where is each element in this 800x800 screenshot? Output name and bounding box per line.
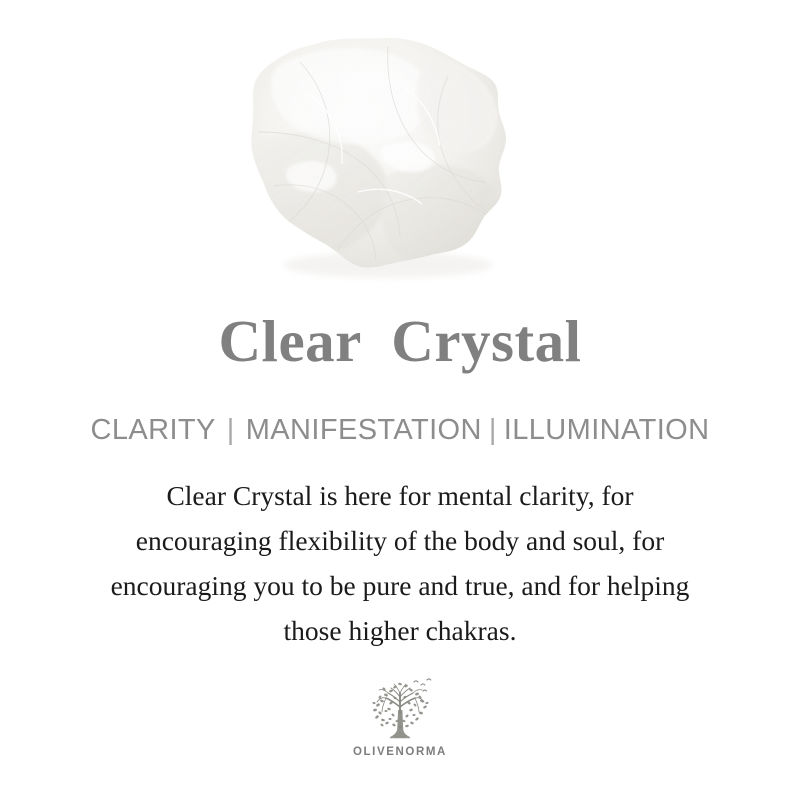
description-line: Clear Crystal is here for mental clarity… xyxy=(40,473,760,518)
product-info-card: Clear Crystal CLARITY | MANIFESTATION | … xyxy=(0,0,800,800)
keyword-list: CLARITY | MANIFESTATION | ILLUMINATION xyxy=(91,416,710,445)
crystal-facets xyxy=(238,36,522,288)
olive-tree-icon xyxy=(361,677,439,743)
brand-logo: OLIVENORMA xyxy=(353,677,447,758)
keyword-manifestation: MANIFESTATION xyxy=(246,416,482,445)
hero-image-area xyxy=(0,0,800,310)
product-title: Clear Crystal xyxy=(218,310,581,372)
keyword-clarity: CLARITY xyxy=(91,416,216,445)
description-line: encouraging flexibility of the body and … xyxy=(40,518,760,563)
description-line: those higher chakras. xyxy=(40,608,760,653)
crystal-illustration xyxy=(238,36,522,288)
clear-crystal-image xyxy=(238,36,522,288)
keyword-separator-1: | xyxy=(216,416,246,445)
keyword-illumination: ILLUMINATION xyxy=(504,416,710,445)
description-line: encouraging you to be pure and true, and… xyxy=(40,563,760,608)
keyword-separator-2: | xyxy=(482,416,504,445)
birds-icon xyxy=(414,679,431,691)
brand-name: OLIVENORMA xyxy=(353,746,447,758)
product-description: Clear Crystal is here for mental clarity… xyxy=(40,473,760,653)
